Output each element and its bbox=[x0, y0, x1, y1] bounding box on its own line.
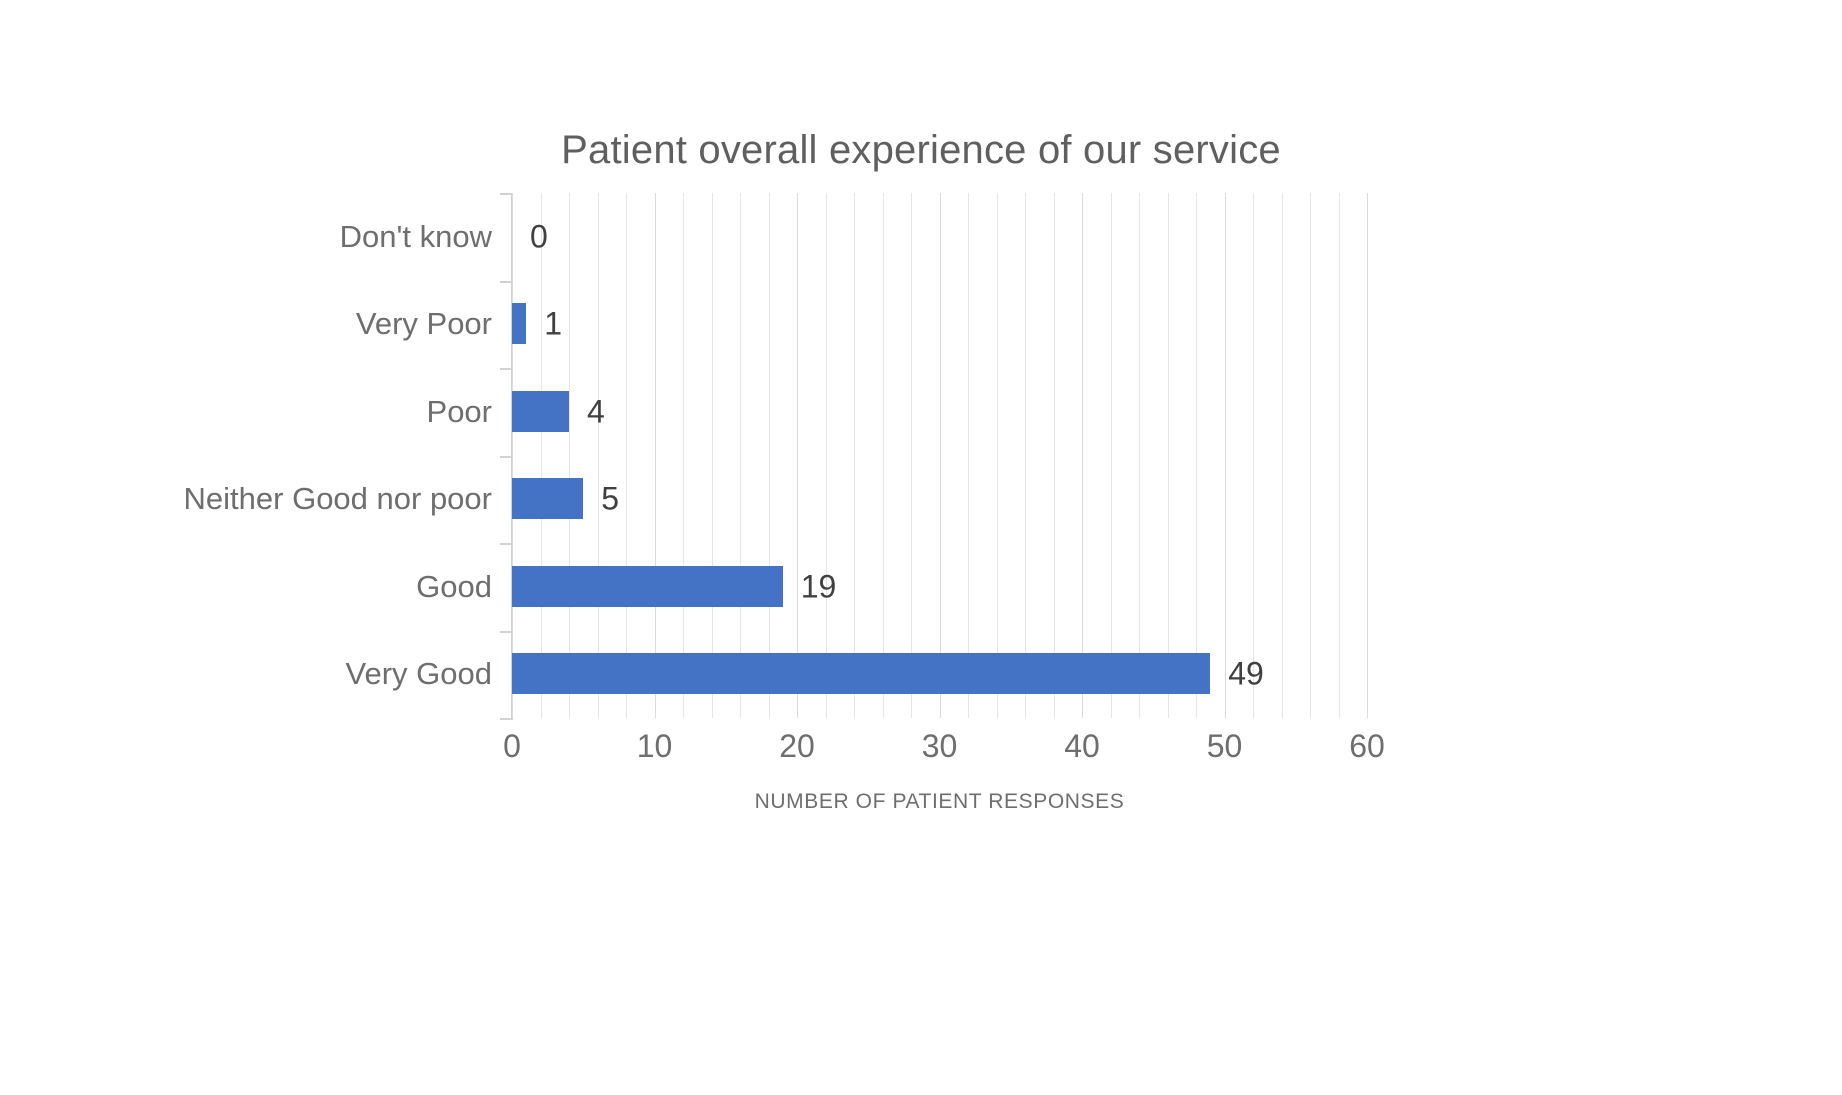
y-axis-tick-mark bbox=[500, 543, 511, 545]
y-axis-tick-mark bbox=[500, 631, 511, 633]
y-axis-tick-mark bbox=[500, 368, 511, 370]
x-axis-tick-label: 20 bbox=[779, 728, 815, 765]
gridline-major bbox=[1367, 193, 1368, 718]
y-axis-tick-label: Don't know bbox=[340, 219, 492, 255]
bar-row: 1 bbox=[512, 303, 1367, 345]
x-axis-tick-label: 0 bbox=[503, 728, 521, 765]
y-axis-tick-mark bbox=[500, 718, 511, 720]
bar-value-label: 1 bbox=[544, 306, 562, 343]
x-axis-tick-label: 40 bbox=[1064, 728, 1100, 765]
x-axis-title: NUMBER OF PATIENT RESPONSES bbox=[512, 790, 1367, 814]
bar-value-label: 4 bbox=[587, 393, 605, 430]
y-axis-tick-label: Very Good bbox=[346, 656, 492, 692]
bar[interactable] bbox=[512, 391, 569, 432]
bar[interactable] bbox=[512, 653, 1210, 694]
bar[interactable] bbox=[512, 566, 783, 607]
x-axis-tick-label: 50 bbox=[1207, 728, 1243, 765]
plot-area: 01451949 bbox=[512, 193, 1367, 718]
bar-series: 01451949 bbox=[512, 193, 1367, 718]
bar-value-label: 5 bbox=[601, 481, 619, 518]
x-axis-tick-labels: 0102030405060 bbox=[0, 728, 1842, 774]
bar-value-label: 49 bbox=[1228, 656, 1264, 693]
y-axis-tick-label: Poor bbox=[427, 394, 492, 430]
chart-title: Patient overall experience of our servic… bbox=[0, 128, 1842, 173]
bar-row: 19 bbox=[512, 566, 1367, 608]
y-axis-tick-mark bbox=[500, 456, 511, 458]
bar[interactable] bbox=[512, 303, 526, 344]
x-axis-tick-label: 60 bbox=[1349, 728, 1385, 765]
bar-value-label: 0 bbox=[530, 218, 548, 255]
y-axis-tick-mark bbox=[500, 193, 511, 195]
y-axis-tick-label: Good bbox=[416, 569, 492, 605]
x-axis-tick-label: 10 bbox=[637, 728, 673, 765]
bar-row: 49 bbox=[512, 653, 1367, 695]
y-axis-labels: Don't knowVery PoorPoorNeither Good nor … bbox=[0, 193, 492, 718]
bar[interactable] bbox=[512, 478, 583, 519]
bar-chart: Patient overall experience of our servic… bbox=[0, 0, 1842, 1095]
bar-row: 5 bbox=[512, 478, 1367, 520]
y-axis-tick-mark bbox=[500, 281, 511, 283]
bar-row: 0 bbox=[512, 216, 1367, 258]
x-axis-tick-label: 30 bbox=[922, 728, 958, 765]
bar-row: 4 bbox=[512, 391, 1367, 433]
y-axis-tick-label: Very Poor bbox=[356, 306, 492, 342]
y-axis-tick-label: Neither Good nor poor bbox=[184, 481, 492, 517]
bar-value-label: 19 bbox=[801, 568, 837, 605]
